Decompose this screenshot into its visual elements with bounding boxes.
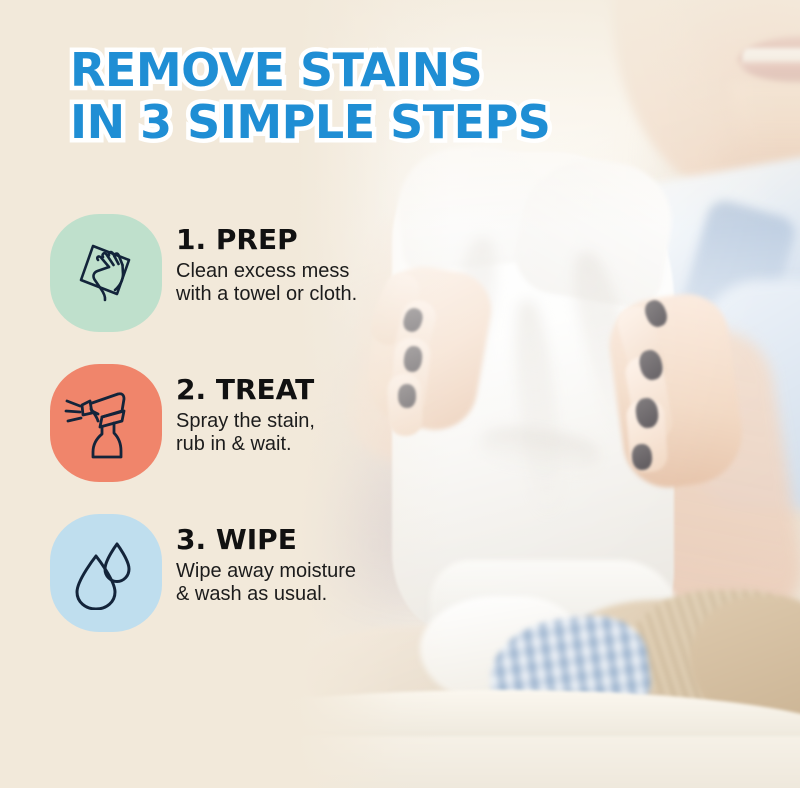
step-3-title: 3. WIPE <box>176 524 356 556</box>
step-1-description: Clean excess mess with a towel or cloth. <box>176 260 357 306</box>
water-droplets-icon <box>69 536 143 610</box>
step-3-icon-container <box>50 514 162 632</box>
title-line-1: REMOVE STAINS <box>70 44 550 96</box>
step-1-icon-container <box>50 214 162 332</box>
step-2-icon-container <box>50 364 162 482</box>
title-line-2: IN 3 SIMPLE STEPS <box>70 96 550 148</box>
step-item-wipe: 3. WIPE Wipe away moisture & wash as usu… <box>50 514 450 632</box>
step-1-text: 1. PREP Clean excess mess with a towel o… <box>162 214 357 306</box>
hand-wiping-cloth-icon <box>67 234 145 312</box>
fingernail <box>631 443 653 470</box>
step-2-description: Spray the stain, rub in & wait. <box>176 410 315 456</box>
stain-removal-infographic: REMOVE STAINS IN 3 SIMPLE STEPS <box>0 0 800 788</box>
step-3-description: Wipe away moisture & wash as usual. <box>176 560 356 606</box>
step-item-prep: 1. PREP Clean excess mess with a towel o… <box>50 214 450 332</box>
laundry-basket-perforations <box>150 744 410 788</box>
spray-bottle-icon <box>64 381 148 465</box>
steps-list: 1. PREP Clean excess mess with a towel o… <box>50 214 450 664</box>
step-3-text: 3. WIPE Wipe away moisture & wash as usu… <box>162 514 356 606</box>
poster-title: REMOVE STAINS IN 3 SIMPLE STEPS <box>70 44 550 148</box>
step-1-title: 1. PREP <box>176 224 357 256</box>
step-2-title: 2. TREAT <box>176 374 315 406</box>
step-2-text: 2. TREAT Spray the stain, rub in & wait. <box>162 364 315 456</box>
step-item-treat: 2. TREAT Spray the stain, rub in & wait. <box>50 364 450 482</box>
